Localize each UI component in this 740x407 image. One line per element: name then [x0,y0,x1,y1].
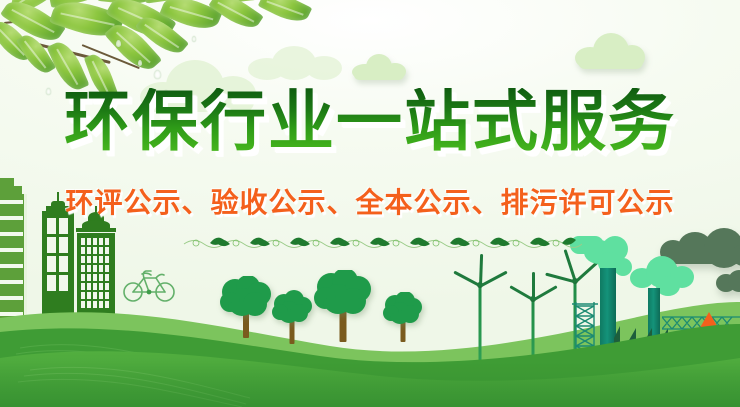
ground-base [0,361,740,407]
water-droplet [154,70,161,79]
vine-divider [182,232,582,250]
water-droplet [138,60,142,66]
page-title-text: 环保行业一站式服务 [64,88,676,154]
page-subtitle-text: 环评公示、验收公示、全本公示、排污许可公示 [65,186,674,220]
smoke-right [630,254,702,296]
eco-service-banner: 环保行业一站式服务 环保行业一站式服务 环评公示、验收公示、全本公示、排污许可公… [0,0,740,407]
page-subtitle: 环评公示、验收公示、全本公示、排污许可公示 [0,186,740,220]
water-droplet [192,36,196,42]
water-droplet [116,40,121,47]
page-title: 环保行业一站式服务 [0,88,740,154]
